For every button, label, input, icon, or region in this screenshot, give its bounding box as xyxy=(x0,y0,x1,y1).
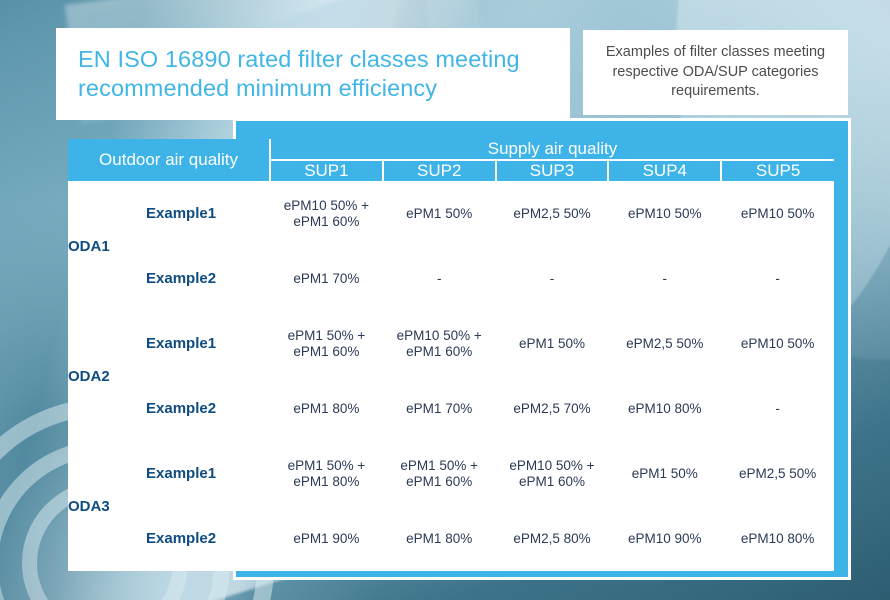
cell-value: ePM1 50% xyxy=(383,181,496,246)
cell-value: ePM2,5 50% xyxy=(721,441,834,506)
table-body: ODA1 Example1 ePM10 50% + ePM1 60% ePM1 … xyxy=(68,181,834,571)
example-label: Example1 xyxy=(146,181,270,246)
note-card: Examples of filter classes meeting respe… xyxy=(583,30,848,115)
cell-value: ePM1 50% + ePM1 80% xyxy=(270,441,383,506)
cell-value: ePM2,5 80% xyxy=(496,506,609,571)
example-label: Example2 xyxy=(146,506,270,571)
cell-value: ePM10 80% xyxy=(721,506,834,571)
table-row: Example2 ePM1 90% ePM1 80% ePM2,5 80% eP… xyxy=(68,506,834,571)
cell-value: ePM1 50% xyxy=(608,441,721,506)
title-card: EN ISO 16890 rated filter classes meetin… xyxy=(56,28,570,120)
filter-class-table-container: Outdoor air quality Supply air quality S… xyxy=(68,139,834,571)
cell-value: ePM10 50% xyxy=(721,311,834,376)
header-row-top: Outdoor air quality Supply air quality xyxy=(68,139,834,160)
header-sup1: SUP1 xyxy=(270,160,383,181)
cell-value: ePM10 80% xyxy=(608,376,721,441)
cell-value: ePM10 50% xyxy=(721,181,834,246)
table-row: Example2 ePM1 70% - - - - xyxy=(68,246,834,311)
cell-value: ePM10 50% + ePM1 60% xyxy=(496,441,609,506)
header-outdoor-air-quality: Outdoor air quality xyxy=(68,139,270,181)
table-row: ODA2 Example1 ePM1 50% + ePM1 60% ePM10 … xyxy=(68,311,834,376)
cell-value: - xyxy=(721,246,834,311)
header-sup4: SUP4 xyxy=(608,160,721,181)
cell-value: ePM1 50% + ePM1 60% xyxy=(270,311,383,376)
oda-label-1: ODA1 xyxy=(68,181,146,311)
cell-value: ePM1 70% xyxy=(270,246,383,311)
cell-value: ePM1 80% xyxy=(270,376,383,441)
example-label: Example2 xyxy=(146,376,270,441)
cell-value: ePM1 50% + ePM1 60% xyxy=(383,441,496,506)
cell-value: ePM1 80% xyxy=(383,506,496,571)
table-row: ODA3 Example1 ePM1 50% + ePM1 80% ePM1 5… xyxy=(68,441,834,506)
cell-value: ePM10 50% xyxy=(608,181,721,246)
cell-value: ePM2,5 50% xyxy=(496,181,609,246)
cell-value: - xyxy=(721,376,834,441)
table-header: Outdoor air quality Supply air quality S… xyxy=(68,139,834,181)
note-text: Examples of filter classes meeting respe… xyxy=(597,43,834,102)
oda-label-3: ODA3 xyxy=(68,441,146,571)
cell-value: - xyxy=(383,246,496,311)
oda-label-2: ODA2 xyxy=(68,311,146,441)
example-label: Example2 xyxy=(146,246,270,311)
table-row: ODA1 Example1 ePM10 50% + ePM1 60% ePM1 … xyxy=(68,181,834,246)
header-supply-air-quality: Supply air quality xyxy=(270,139,834,160)
cell-value: ePM10 50% + ePM1 60% xyxy=(270,181,383,246)
page-title: EN ISO 16890 rated filter classes meetin… xyxy=(78,45,552,103)
cell-value: ePM1 90% xyxy=(270,506,383,571)
header-sup3: SUP3 xyxy=(496,160,609,181)
cell-value: ePM10 90% xyxy=(608,506,721,571)
cell-value: ePM2,5 70% xyxy=(496,376,609,441)
filter-class-table: Outdoor air quality Supply air quality S… xyxy=(68,139,834,571)
header-sup5: SUP5 xyxy=(721,160,834,181)
cell-value: ePM2,5 50% xyxy=(608,311,721,376)
cell-value: - xyxy=(496,246,609,311)
example-label: Example1 xyxy=(146,311,270,376)
cell-value: ePM1 50% xyxy=(496,311,609,376)
cell-value: ePM1 70% xyxy=(383,376,496,441)
example-label: Example1 xyxy=(146,441,270,506)
cell-value: ePM10 50% + ePM1 60% xyxy=(383,311,496,376)
table-row: Example2 ePM1 80% ePM1 70% ePM2,5 70% eP… xyxy=(68,376,834,441)
header-sup2: SUP2 xyxy=(383,160,496,181)
cell-value: - xyxy=(608,246,721,311)
